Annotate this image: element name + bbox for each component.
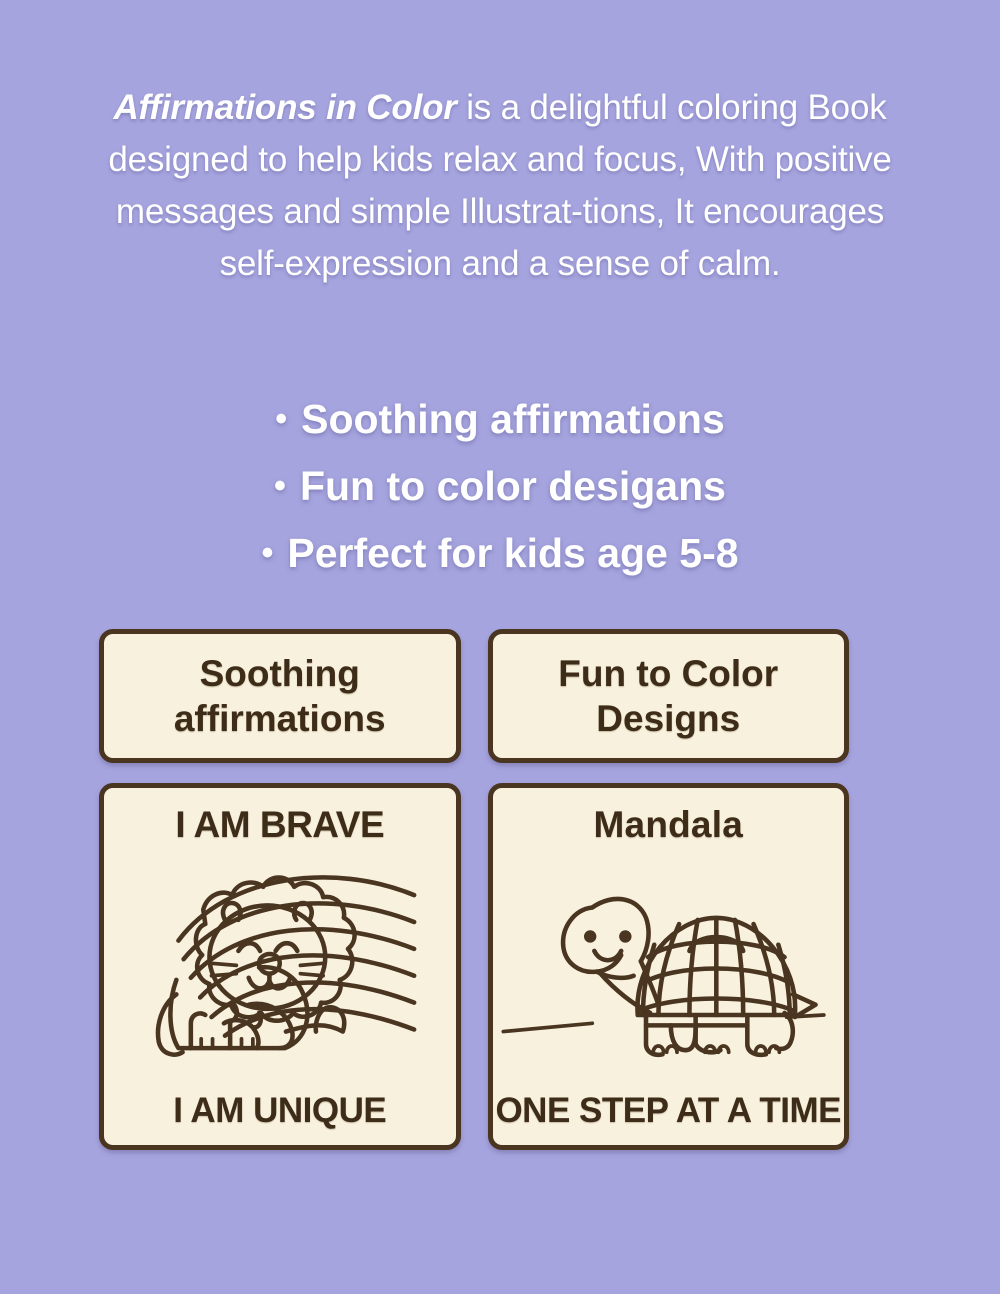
label-card-row: Soothing affirmations Fun to Color Desig…	[99, 629, 849, 763]
lion-with-rainbow-icon	[104, 846, 456, 1091]
card-soothing-affirmations: Soothing affirmations	[99, 629, 461, 763]
book-title: Affirmations in Color	[113, 88, 456, 127]
card-label-line-1: Soothing	[174, 651, 386, 696]
art-card-title: I AM BRAVE	[175, 804, 384, 846]
card-label-text: Soothing affirmations	[174, 651, 386, 741]
promo-page: Affirmations in Color is a delightful co…	[0, 0, 1000, 1294]
bullet-marker-icon: •	[261, 520, 273, 587]
bullet-item-3: •Perfect for kids age 5-8	[100, 520, 900, 587]
feature-bullet-list: •Soothing affirmations •Fun to color des…	[100, 386, 900, 587]
tortoise-mandala-icon	[493, 846, 845, 1091]
card-lion-i-am-brave: I AM BRAVE	[99, 783, 461, 1150]
bullet-label-2: Fun to color desigans	[300, 463, 726, 509]
art-card-caption: ONE STEP AT A TIME	[495, 1091, 841, 1131]
bullet-item-1: •Soothing affirmations	[100, 386, 900, 453]
card-label-line-1: Fun to Color	[558, 651, 778, 696]
card-label-text: Fun to Color Designs	[558, 651, 778, 741]
bullet-label-1: Soothing affirmations	[301, 396, 725, 442]
bullet-label-3: Perfect for kids age 5-8	[287, 530, 738, 576]
intro-paragraph: Affirmations in Color is a delightful co…	[105, 82, 895, 290]
card-label-line-2: Designs	[558, 696, 778, 741]
bullet-marker-icon: •	[274, 453, 286, 520]
card-label-line-2: affirmations	[174, 696, 386, 741]
art-card-title: Mandala	[594, 804, 743, 846]
card-turtle-mandala: Mandala	[488, 783, 850, 1150]
feature-card-grid: Soothing affirmations Fun to Color Desig…	[99, 629, 849, 1150]
bullet-item-2: •Fun to color desigans	[100, 453, 900, 520]
art-card-row: I AM BRAVE	[99, 783, 849, 1150]
bullet-marker-icon: •	[275, 386, 287, 453]
card-fun-to-color-designs: Fun to Color Designs	[488, 629, 850, 763]
art-card-caption: I AM UNIQUE	[173, 1091, 386, 1131]
